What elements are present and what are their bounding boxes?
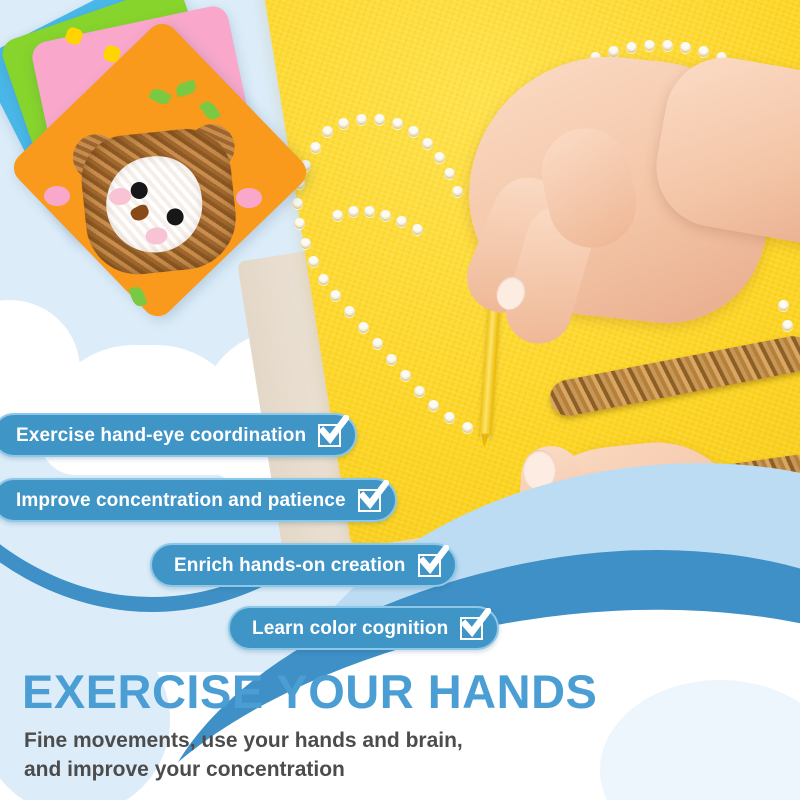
checkbox-checked-icon [418, 554, 441, 577]
page-subtitle: Fine movements, use your hands and brain… [24, 727, 463, 785]
product-poster: Exercise hand-eye coordination Improve c… [0, 0, 800, 800]
benefit-label: Enrich hands-on creation [174, 556, 406, 575]
bear-face-motif [77, 125, 241, 280]
checkbox-checked-icon [460, 617, 483, 640]
benefit-label: Improve concentration and patience [16, 491, 346, 510]
checkbox-checked-icon [358, 489, 381, 512]
benefit-pill-3[interactable]: Enrich hands-on creation [150, 543, 457, 587]
benefit-pill-1[interactable]: Exercise hand-eye coordination [0, 413, 357, 457]
benefit-label: Learn color cognition [252, 619, 448, 638]
subtitle-line-2: and improve your concentration [24, 756, 463, 785]
benefit-pill-2[interactable]: Improve concentration and patience [0, 478, 397, 522]
checkbox-checked-icon [318, 424, 341, 447]
benefit-pill-4[interactable]: Learn color cognition [228, 606, 499, 650]
benefit-label: Exercise hand-eye coordination [16, 426, 306, 445]
felt-petal-sticker [44, 186, 70, 206]
felt-petal-sticker [236, 188, 262, 208]
page-title: EXERCISE YOUR HANDS [22, 668, 597, 715]
subtitle-line-1: Fine movements, use your hands and brain… [24, 727, 463, 756]
